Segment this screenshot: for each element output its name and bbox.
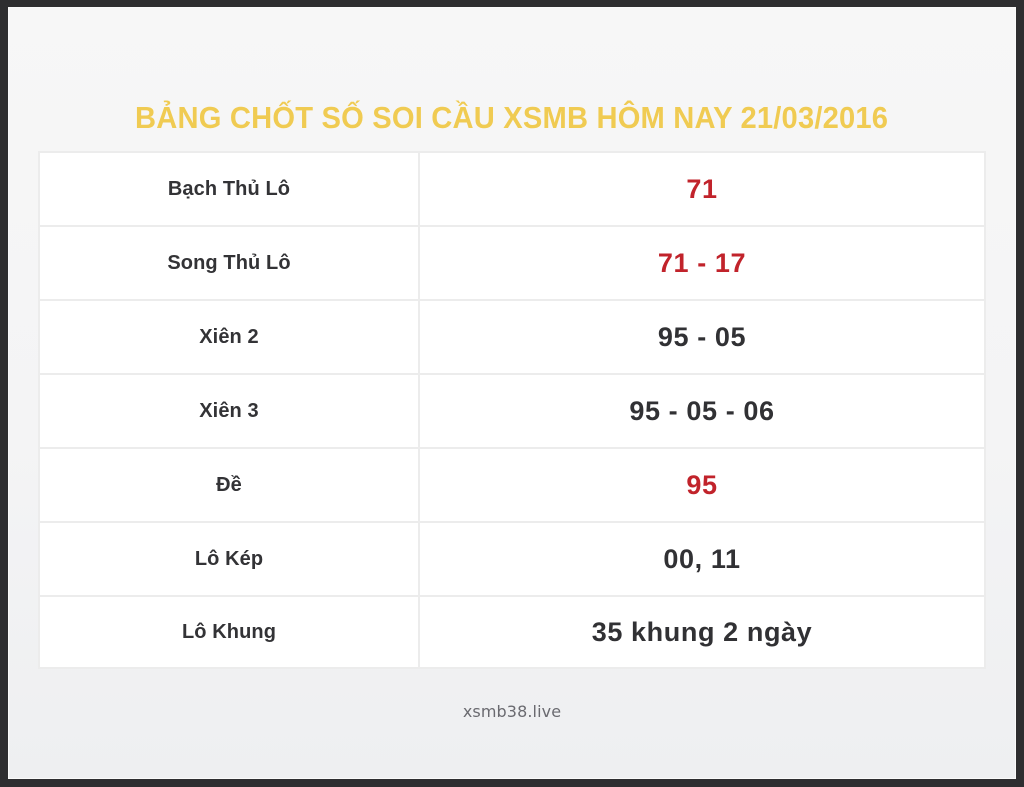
- row-label: Đề: [216, 474, 242, 496]
- footer-bar: xsmb38.live: [8, 702, 1016, 722]
- row-label-cell: Đề: [38, 447, 418, 521]
- table-row: Lô Kép00, 11: [38, 521, 986, 595]
- row-value-cell: 95 - 05 - 06: [418, 373, 986, 447]
- table-row: Đề95: [38, 447, 986, 521]
- page-frame: BẢNG CHỐT SỐ SOI CẦU XSMB HÔM NAY 21/03/…: [0, 0, 1024, 787]
- row-value-cell: 00, 11: [418, 521, 986, 595]
- page-surface: BẢNG CHỐT SỐ SOI CẦU XSMB HÔM NAY 21/03/…: [8, 7, 1016, 779]
- row-label: Song Thủ Lô: [167, 252, 290, 274]
- row-value-cell: 71: [418, 151, 986, 225]
- row-label-cell: Song Thủ Lô: [38, 225, 418, 299]
- row-value-cell: 71 - 17: [418, 225, 986, 299]
- row-label-cell: Xiên 2: [38, 299, 418, 373]
- row-value: 95 - 05: [658, 322, 746, 352]
- row-value: 35 khung 2 ngày: [592, 617, 813, 647]
- page-title: BẢNG CHỐT SỐ SOI CẦU XSMB HÔM NAY 21/03/…: [135, 100, 888, 136]
- row-label: Bạch Thủ Lô: [168, 178, 290, 200]
- row-value: 95 - 05 - 06: [629, 396, 774, 426]
- site-credit: xsmb38.live: [463, 702, 561, 721]
- table-body: Bạch Thủ Lô71Song Thủ Lô71 - 17Xiên 295 …: [38, 151, 986, 669]
- row-value-highlighted: 95: [686, 470, 717, 500]
- row-label: Lô Kép: [195, 548, 263, 570]
- row-value-highlighted: 71 - 17: [658, 248, 746, 278]
- row-value-cell: 35 khung 2 ngày: [418, 595, 986, 669]
- row-label-cell: Lô Khung: [38, 595, 418, 669]
- row-value-highlighted: 71: [686, 174, 717, 204]
- row-label: Lô Khung: [182, 621, 276, 643]
- lottery-prediction-table: Bạch Thủ Lô71Song Thủ Lô71 - 17Xiên 295 …: [38, 151, 986, 669]
- table-row: Song Thủ Lô71 - 17: [38, 225, 986, 299]
- row-label-cell: Xiên 3: [38, 373, 418, 447]
- row-label: Xiên 3: [199, 400, 259, 422]
- title-bar: BẢNG CHỐT SỐ SOI CẦU XSMB HÔM NAY 21/03/…: [8, 79, 1016, 157]
- table-row: Xiên 395 - 05 - 06: [38, 373, 986, 447]
- row-value: 00, 11: [663, 544, 740, 574]
- table-row: Bạch Thủ Lô71: [38, 151, 986, 225]
- row-label-cell: Bạch Thủ Lô: [38, 151, 418, 225]
- row-value-cell: 95: [418, 447, 986, 521]
- table-row: Xiên 295 - 05: [38, 299, 986, 373]
- row-value-cell: 95 - 05: [418, 299, 986, 373]
- row-label: Xiên 2: [199, 326, 259, 348]
- table-row: Lô Khung35 khung 2 ngày: [38, 595, 986, 669]
- row-label-cell: Lô Kép: [38, 521, 418, 595]
